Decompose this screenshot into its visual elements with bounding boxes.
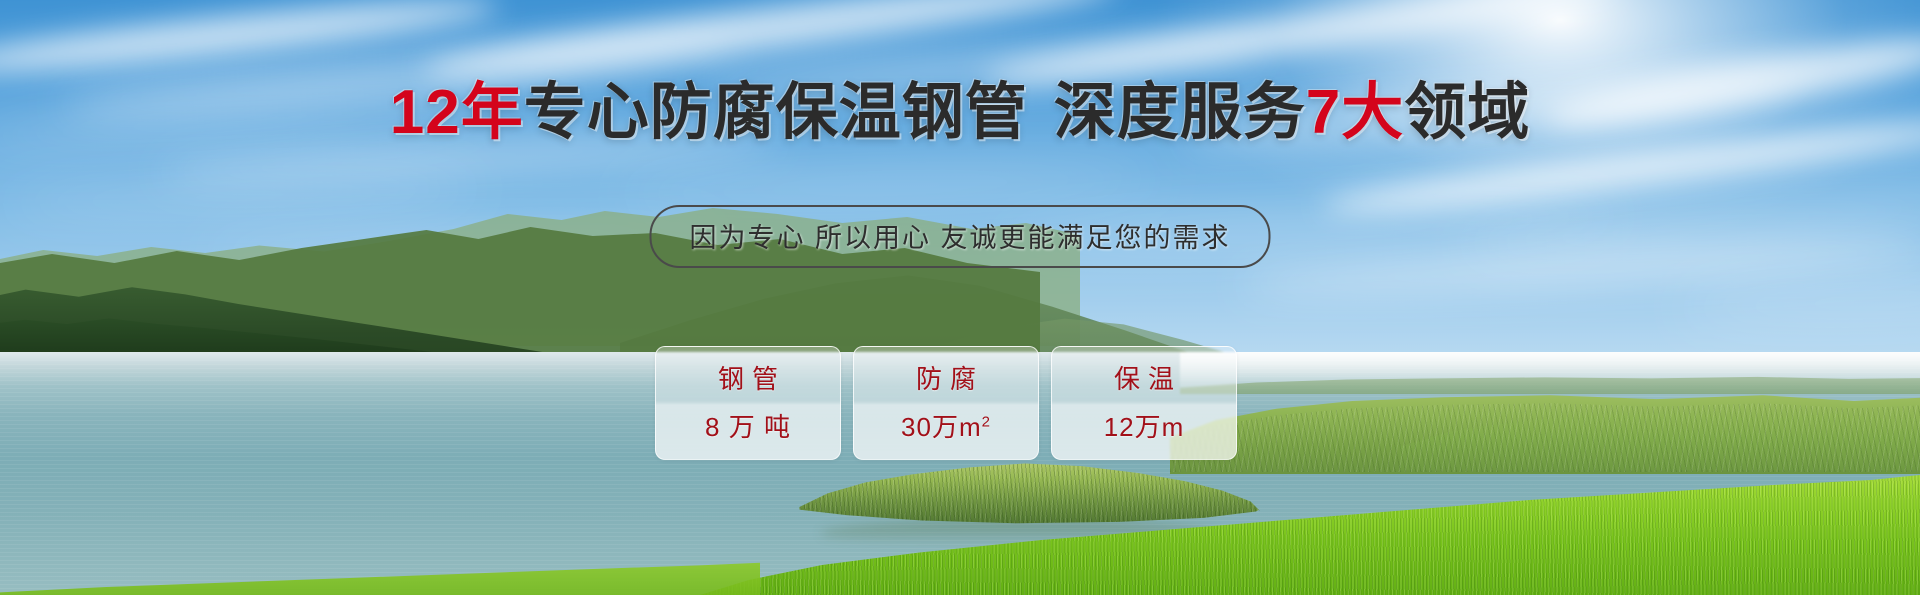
stat-label: 保温 [1106,366,1182,392]
stat-card-group: 钢管 8 万 吨 防腐 30万m2 保温 12万m [655,346,1237,460]
stat-label: 防腐 [908,366,984,392]
banner-content: 12年专心防腐保温钢管深度服务7大领域 因为专心 所以用心 友诚更能满足您的需求… [0,0,1920,595]
stat-value: 8 万 吨 [705,414,791,440]
headline-seven-red: 7大 [1306,78,1404,147]
stat-value: 30万m2 [901,414,991,440]
banner-headline: 12年专心防腐保温钢管深度服务7大领域 [0,82,1920,144]
stat-value-superscript: 2 [982,413,991,430]
headline-service-dark: 深度服务 [1054,78,1306,147]
stat-value-text: 8 万 吨 [705,412,791,442]
banner-subtitle-pill: 因为专心 所以用心 友诚更能满足您的需求 [649,205,1270,268]
stat-value: 12万m [1104,414,1185,440]
headline-main-dark: 专心防腐保温钢管 [524,78,1028,147]
stat-card-anticorrosion[interactable]: 防腐 30万m2 [853,346,1039,460]
stat-value-text: 30万m [901,412,982,442]
stat-value-text: 12万m [1104,412,1185,442]
hero-banner: 12年专心防腐保温钢管深度服务7大领域 因为专心 所以用心 友诚更能满足您的需求… [0,0,1920,595]
stat-card-steel-pipe[interactable]: 钢管 8 万 吨 [655,346,841,460]
headline-fields-dark: 领域 [1404,78,1530,147]
stat-label: 钢管 [710,366,786,392]
stat-card-insulation[interactable]: 保温 12万m [1051,346,1237,460]
headline-years-red: 12年 [390,78,524,147]
